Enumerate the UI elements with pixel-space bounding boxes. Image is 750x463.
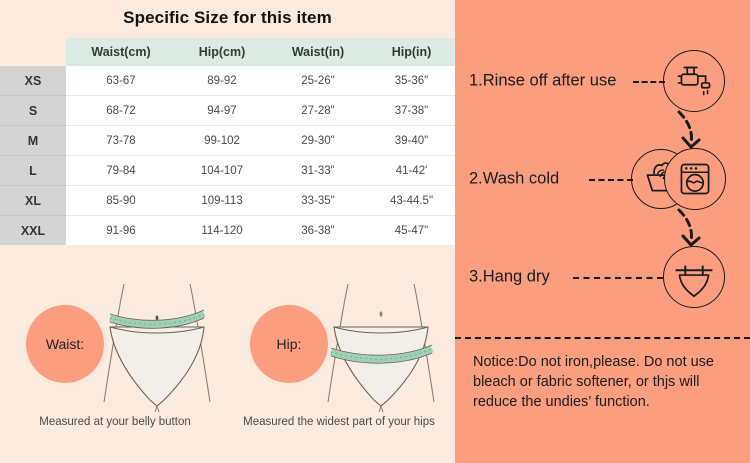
cell-hip-cm: 114-120	[176, 216, 268, 246]
washing-machine-icon	[664, 148, 726, 210]
cell-waist-in: 33-35"	[268, 186, 368, 216]
cell-waist-cm: 63-67	[66, 66, 176, 96]
cell-hip-cm: 99-102	[176, 126, 268, 156]
table-row: M 73-78 99-102 29-30" 39-40"	[0, 126, 455, 156]
cell-hip-cm: 109-113	[176, 186, 268, 216]
hanging-underwear-icon	[663, 246, 725, 308]
cell-hip-cm: 104-107	[176, 156, 268, 186]
cell-waist-in: 25-26"	[268, 66, 368, 96]
cell-waist-cm: 79-84	[66, 156, 176, 186]
cell-waist-in: 27-28"	[268, 96, 368, 126]
notice-text: Notice:Do not iron,please. Do not use bl…	[473, 352, 735, 412]
hip-measure-block: Hip:	[228, 268, 450, 463]
care-step-2-label: 2.Wash cold	[469, 170, 559, 189]
cell-waist-in: 36-38"	[268, 216, 368, 246]
care-step-rinse: 1.Rinse off after use	[455, 50, 750, 112]
care-step-2-connector	[589, 179, 633, 181]
cell-size: XXL	[0, 216, 66, 246]
table-row: XS 63-67 89-92 25-26" 35-36"	[0, 66, 455, 96]
column-header-waist-cm: Waist(cm)	[66, 38, 176, 66]
cell-waist-cm: 85-90	[66, 186, 176, 216]
table-body: XS 63-67 89-92 25-26" 35-36" S 68-72 94-…	[0, 66, 455, 245]
cell-hip-in: 39-40"	[368, 126, 455, 156]
underwear-waist-tape-figure-icon	[90, 278, 224, 412]
cell-hip-cm: 94-97	[176, 96, 268, 126]
page-title: Specific Size for this item	[0, 8, 455, 28]
care-step-3-connector	[573, 277, 663, 279]
column-header-hip-in: Hip(in)	[368, 38, 455, 66]
care-instructions-panel: 1.Rinse off after use	[455, 0, 750, 463]
cell-size: XS	[0, 66, 66, 96]
cell-size: XL	[0, 186, 66, 216]
size-chart-page: Specific Size for this item Waist(cm) Hi…	[0, 0, 750, 463]
cell-hip-in: 43-44.5"	[368, 186, 455, 216]
underwear-hip-tape-figure-icon	[314, 278, 448, 412]
care-step-hang-dry: 3.Hang dry	[455, 246, 750, 308]
column-header-waist-in: Waist(in)	[268, 38, 368, 66]
left-panel: Specific Size for this item Waist(cm) Hi…	[0, 0, 455, 463]
care-step-wash-cold: 2.Wash cold	[455, 148, 750, 210]
table-corner-cell	[0, 38, 66, 66]
table-row: L 79-84 104-107 31-33" 41-42'	[0, 156, 455, 186]
care-step-1-label: 1.Rinse off after use	[469, 72, 616, 91]
waist-caption: Measured at your belly button	[4, 416, 226, 428]
cell-size: S	[0, 96, 66, 126]
table-header: Waist(cm) Hip(cm) Waist(in) Hip(in)	[0, 38, 455, 66]
table-header-row: Waist(cm) Hip(cm) Waist(in) Hip(in)	[0, 38, 455, 66]
measurement-guide-section: Waist:	[0, 268, 455, 463]
cell-waist-in: 31-33"	[268, 156, 368, 186]
waist-measure-block: Waist:	[4, 268, 226, 463]
cell-hip-in: 45-47"	[368, 216, 455, 246]
hip-caption: Measured the widest part of your hips	[228, 416, 450, 428]
cell-hip-in: 41-42'	[368, 156, 455, 186]
cell-waist-cm: 68-72	[66, 96, 176, 126]
cell-waist-cm: 91-96	[66, 216, 176, 246]
care-step-3-label: 3.Hang dry	[469, 268, 550, 287]
care-step-1-connector	[633, 81, 665, 83]
cell-size: L	[0, 156, 66, 186]
size-table: Waist(cm) Hip(cm) Waist(in) Hip(in) XS 6…	[0, 38, 455, 245]
faucet-icon	[663, 50, 725, 112]
cell-hip-in: 37-38"	[368, 96, 455, 126]
cell-hip-cm: 89-92	[176, 66, 268, 96]
table-row: XXL 91-96 114-120 36-38" 45-47"	[0, 216, 455, 246]
notice-divider	[455, 337, 750, 339]
table-row: XL 85-90 109-113 33-35" 43-44.5"	[0, 186, 455, 216]
column-header-hip-cm: Hip(cm)	[176, 38, 268, 66]
cell-hip-in: 35-36"	[368, 66, 455, 96]
cell-size: M	[0, 126, 66, 156]
cell-waist-cm: 73-78	[66, 126, 176, 156]
table-row: S 68-72 94-97 27-28" 37-38"	[0, 96, 455, 126]
cell-waist-in: 29-30"	[268, 126, 368, 156]
